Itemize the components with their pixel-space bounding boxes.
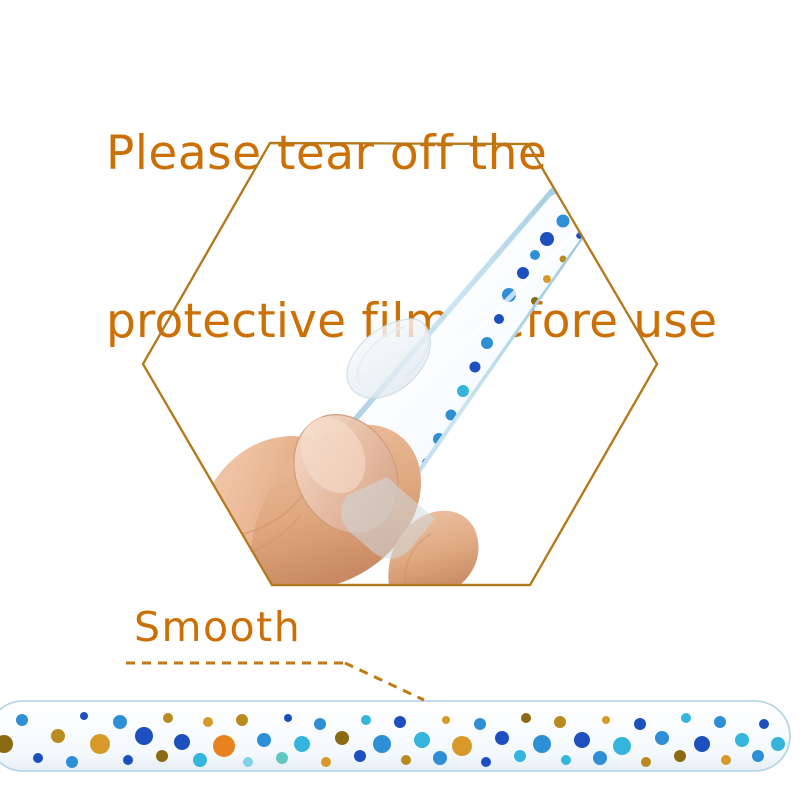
smooth-leader-line (126, 663, 424, 700)
hexagon-frame-overlay (0, 0, 800, 800)
hexagon-outline-top (143, 143, 657, 585)
product-image-canvas: Please tear off the protective film befo… (0, 0, 800, 800)
